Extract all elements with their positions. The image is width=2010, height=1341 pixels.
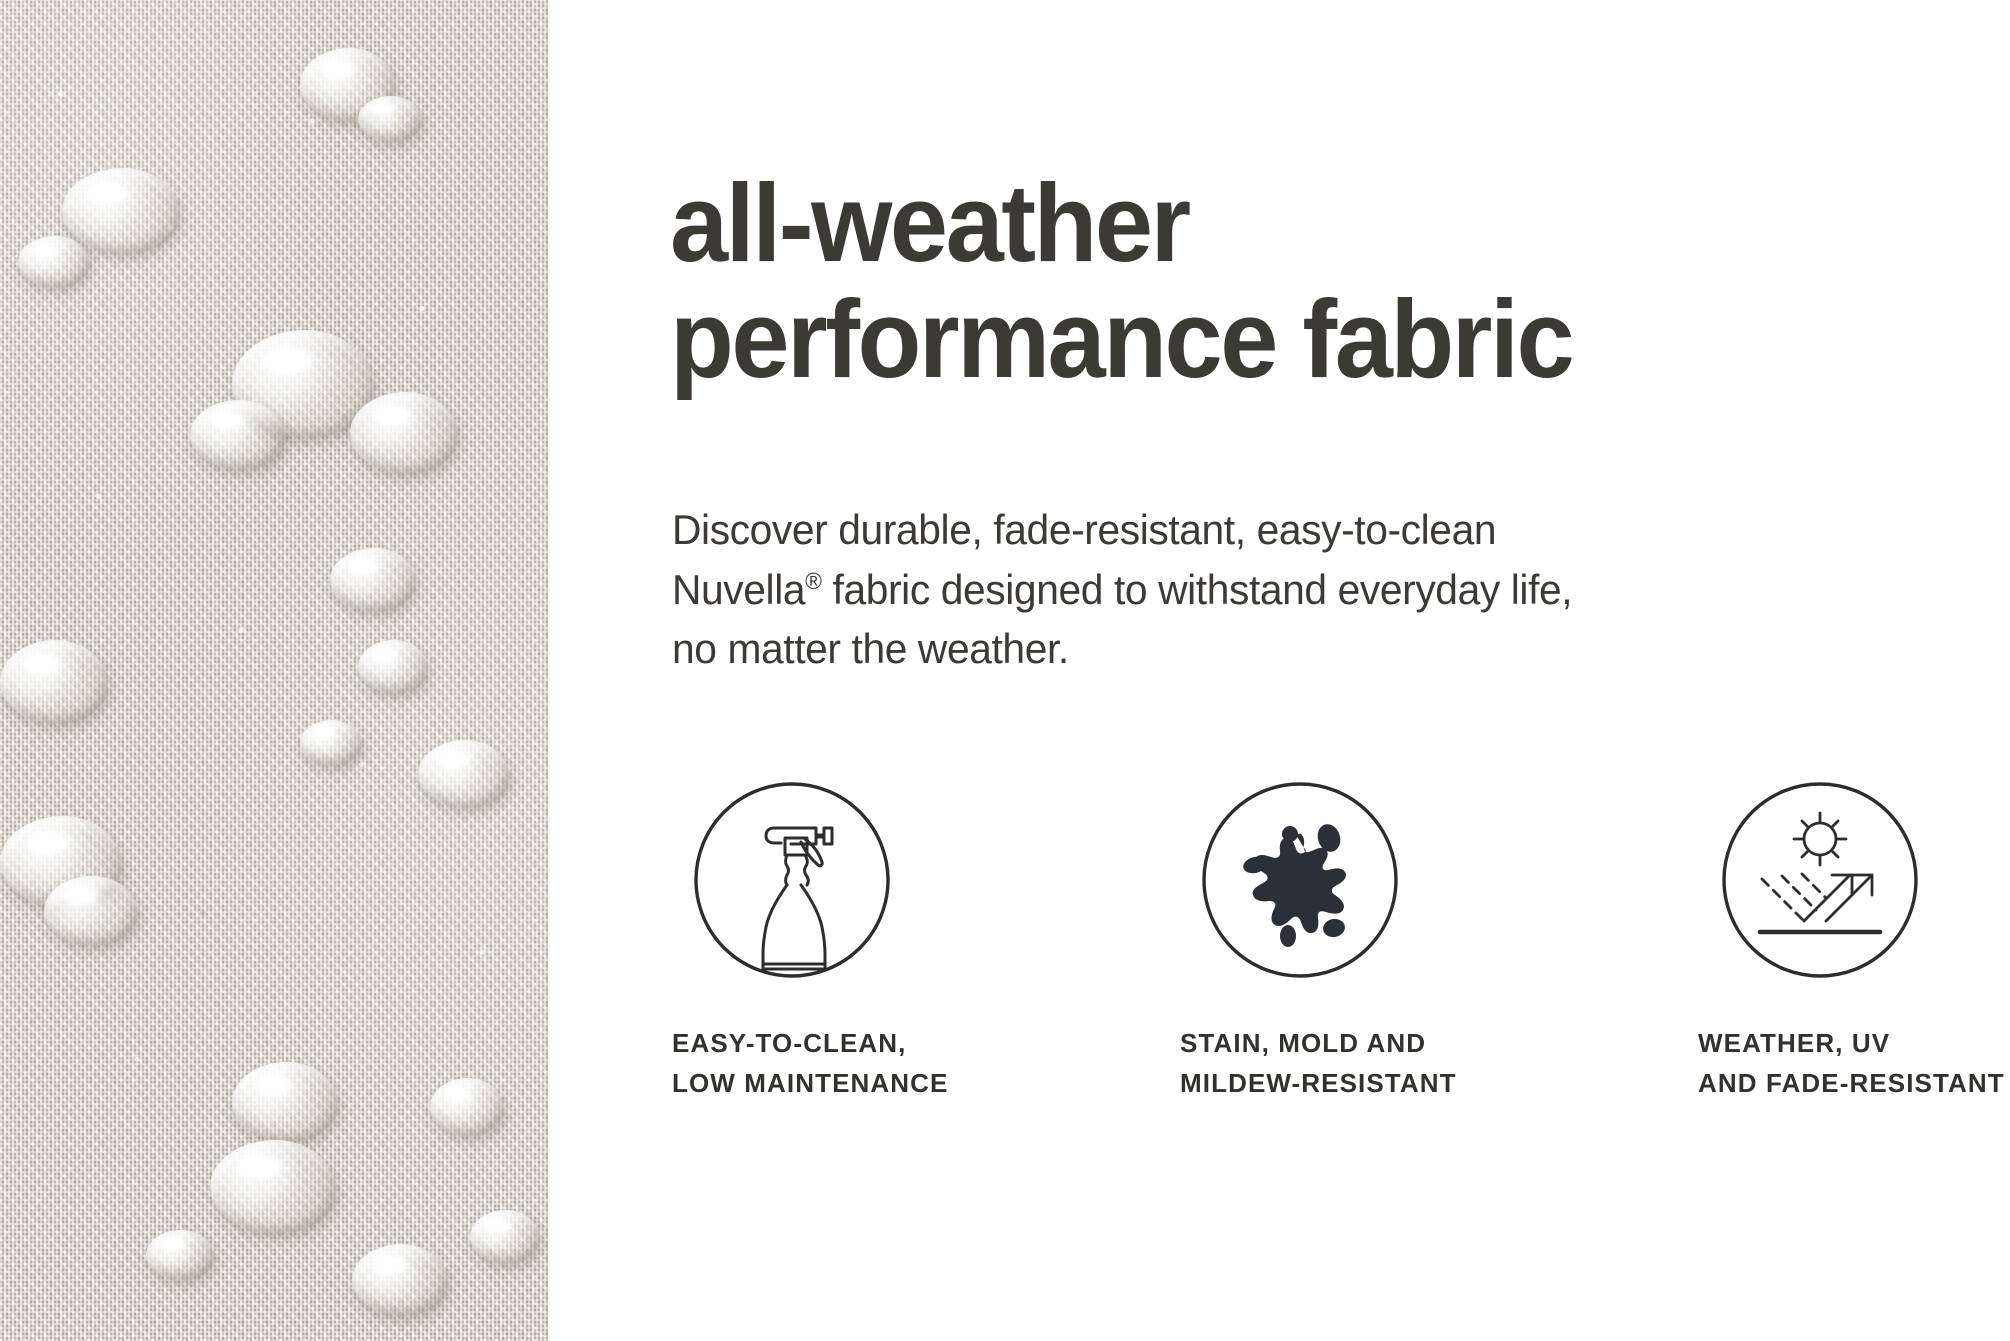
water-droplet [330, 548, 416, 612]
water-droplet [350, 392, 458, 474]
feature-item-easy-to-clean: EASY-TO-CLEAN, LOW MAINTENANCE [672, 780, 1132, 1103]
intro-line-3: no matter the weather. [672, 625, 1069, 672]
water-droplet [300, 720, 362, 766]
water-droplet [232, 1062, 338, 1142]
all-weather-fabric-banner: all-weather performance fabric Discover … [0, 0, 2010, 1341]
page-title: all-weather performance fabric [670, 166, 1924, 397]
brand-name-nuvella: Nuvella [672, 566, 805, 613]
registered-trademark-symbol: ® [805, 568, 821, 594]
water-droplet [146, 1230, 214, 1280]
water-droplet [418, 740, 510, 808]
content-panel: all-weather performance fabric Discover … [548, 0, 2010, 1341]
sun-uv-reflect-icon [1720, 780, 1920, 980]
water-droplet [190, 400, 286, 470]
water-droplet [430, 1078, 504, 1136]
feature-caption: EASY-TO-CLEAN, LOW MAINTENANCE [672, 1024, 1132, 1103]
fabric-photo-panel [0, 0, 548, 1341]
feature-list: EASY-TO-CLEAN, LOW MAINTENANCE [672, 780, 1992, 1103]
intro-paragraph: Discover durable, fade-resistant, easy-t… [672, 500, 1642, 679]
water-droplet [0, 640, 108, 724]
feature-caption: WEATHER, UV AND FADE-RESISTANT [1698, 1024, 2010, 1103]
water-droplet [358, 96, 422, 142]
stain-splat-icon [1200, 780, 1400, 980]
water-droplet [18, 236, 90, 288]
feature-caption: STAIN, MOLD AND MILDEW-RESISTANT [1180, 1024, 1592, 1103]
water-droplet [358, 640, 428, 694]
intro-line-2-rest: fabric designed to withstand everyday li… [822, 566, 1573, 613]
water-droplet [210, 1140, 336, 1234]
water-droplet [352, 1244, 448, 1316]
water-droplet [470, 1210, 540, 1264]
feature-item-stain-resistant: STAIN, MOLD AND MILDEW-RESISTANT [1132, 780, 1592, 1103]
spray-bottle-icon [692, 780, 892, 980]
intro-line-1: Discover durable, fade-resistant, easy-t… [672, 506, 1496, 553]
feature-item-uv-fade-resistant: WEATHER, UV AND FADE-RESISTANT [1592, 780, 2010, 1103]
water-droplet [62, 168, 180, 254]
water-droplet [44, 876, 138, 946]
